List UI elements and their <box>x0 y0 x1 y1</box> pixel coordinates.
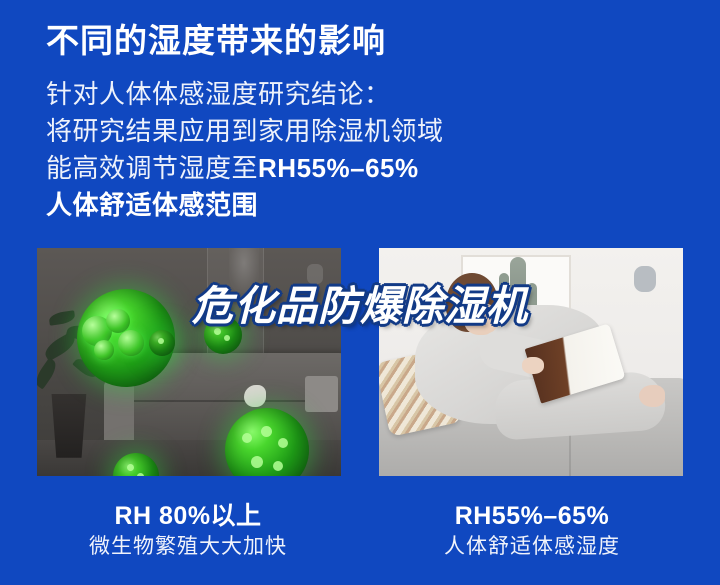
caption-title: RH 80%以上 <box>28 500 348 532</box>
intro-line-3-text: 能高效调节湿度至 <box>46 153 258 183</box>
caption-comfort-humidity: RH55%–65% 人体舒适体感湿度 <box>372 500 692 562</box>
caption-subtitle: 人体舒适体感湿度 <box>372 532 692 562</box>
vase <box>244 385 266 407</box>
intro-line-2: 将研究结果应用到家用除湿机领域 <box>46 113 444 150</box>
person-foot <box>639 385 665 407</box>
intro-paragraph: 针对人体体感湿度研究结论： 将研究结果应用到家用除湿机领域 能高效调节湿度至RH… <box>46 76 444 224</box>
page-title: 不同的湿度带来的影响 <box>46 14 386 62</box>
intro-line-3: 能高效调节湿度至RH55%–65% <box>46 150 444 187</box>
side-table <box>305 376 338 412</box>
person-hand <box>522 357 544 374</box>
intro-line-3-value: RH55%–65% <box>258 153 419 183</box>
overlay-product-title: 危化品防爆除湿机 <box>0 272 720 332</box>
caption-subtitle: 微生物繁殖大大加快 <box>28 532 348 562</box>
caption-title: RH55%–65% <box>372 500 692 532</box>
caption-high-humidity: RH 80%以上 微生物繁殖大大加快 <box>28 500 348 562</box>
poster-root: 不同的湿度带来的影响 针对人体体感湿度研究结论： 将研究结果应用到家用除湿机领域… <box>0 0 720 585</box>
intro-line-4: 人体舒适体感范围 <box>46 187 444 224</box>
sofa-arm <box>104 380 134 448</box>
plant-leaf <box>37 357 60 389</box>
intro-line-1: 针对人体体感湿度研究结论： <box>46 76 444 113</box>
